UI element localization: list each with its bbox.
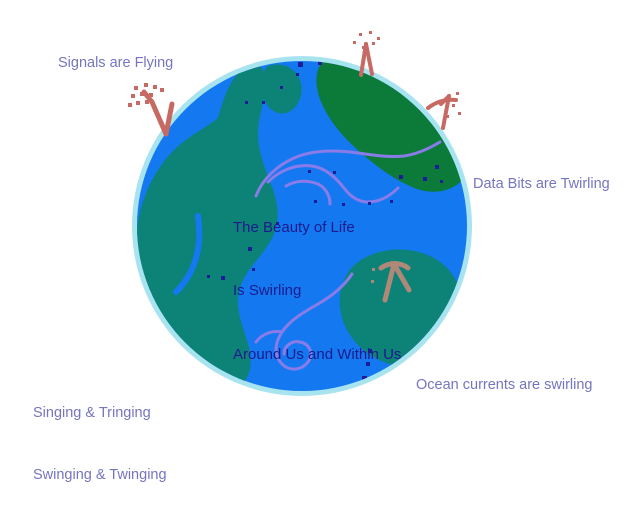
label-singing-block: Singing & Tringing Swinging & Twinging: [33, 362, 167, 527]
label-center-poem: The Beauty of Life Is Swirling Around Us…: [233, 174, 401, 408]
label-ocean-currents-are-swirling: Ocean currents are swirling: [416, 375, 593, 396]
illustration-canvas: Signals are Flying Data Bits are Twirlin…: [0, 0, 640, 480]
label-singing-line2: Swinging & Twinging: [33, 465, 167, 486]
poem-line-3: Around Us and Within Us: [233, 344, 401, 365]
antenna-tower-upper-left-icon: [144, 92, 172, 134]
poem-line-2: Is Swirling: [233, 280, 401, 301]
label-data-bits-are-twirling: Data Bits are Twirling: [473, 174, 610, 195]
label-signals-are-flying: Signals are Flying: [58, 53, 173, 74]
label-singing-line1: Singing & Tringing: [33, 403, 167, 424]
poem-line-1: The Beauty of Life: [233, 217, 401, 238]
